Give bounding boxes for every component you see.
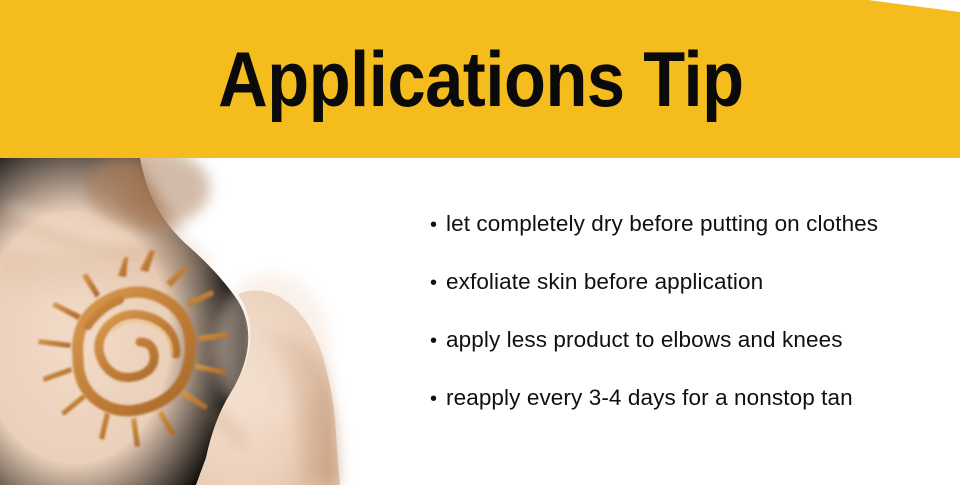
shoulder-photo-illustration <box>0 158 400 485</box>
bullet-marker-icon: • <box>430 215 446 235</box>
list-item: • let completely dry before putting on c… <box>430 212 955 270</box>
list-item: • reapply every 3-4 days for a nonstop t… <box>430 386 955 444</box>
list-item: • exfoliate skin before application <box>430 270 955 328</box>
list-item: • apply less product to elbows and knees <box>430 328 955 386</box>
page-title: Applications Tip <box>58 0 903 158</box>
slide-canvas: Applications Tip <box>0 0 960 485</box>
list-item-label: reapply every 3-4 days for a nonstop tan <box>446 386 853 411</box>
bullet-marker-icon: • <box>430 389 446 409</box>
bullet-marker-icon: • <box>430 273 446 293</box>
list-item-label: let completely dry before putting on clo… <box>446 212 878 237</box>
list-item-label: exfoliate skin before application <box>446 270 763 295</box>
list-item-label: apply less product to elbows and knees <box>446 328 843 353</box>
hero-photo <box>0 158 400 485</box>
bullet-marker-icon: • <box>430 331 446 351</box>
tips-list: • let completely dry before putting on c… <box>430 212 955 444</box>
